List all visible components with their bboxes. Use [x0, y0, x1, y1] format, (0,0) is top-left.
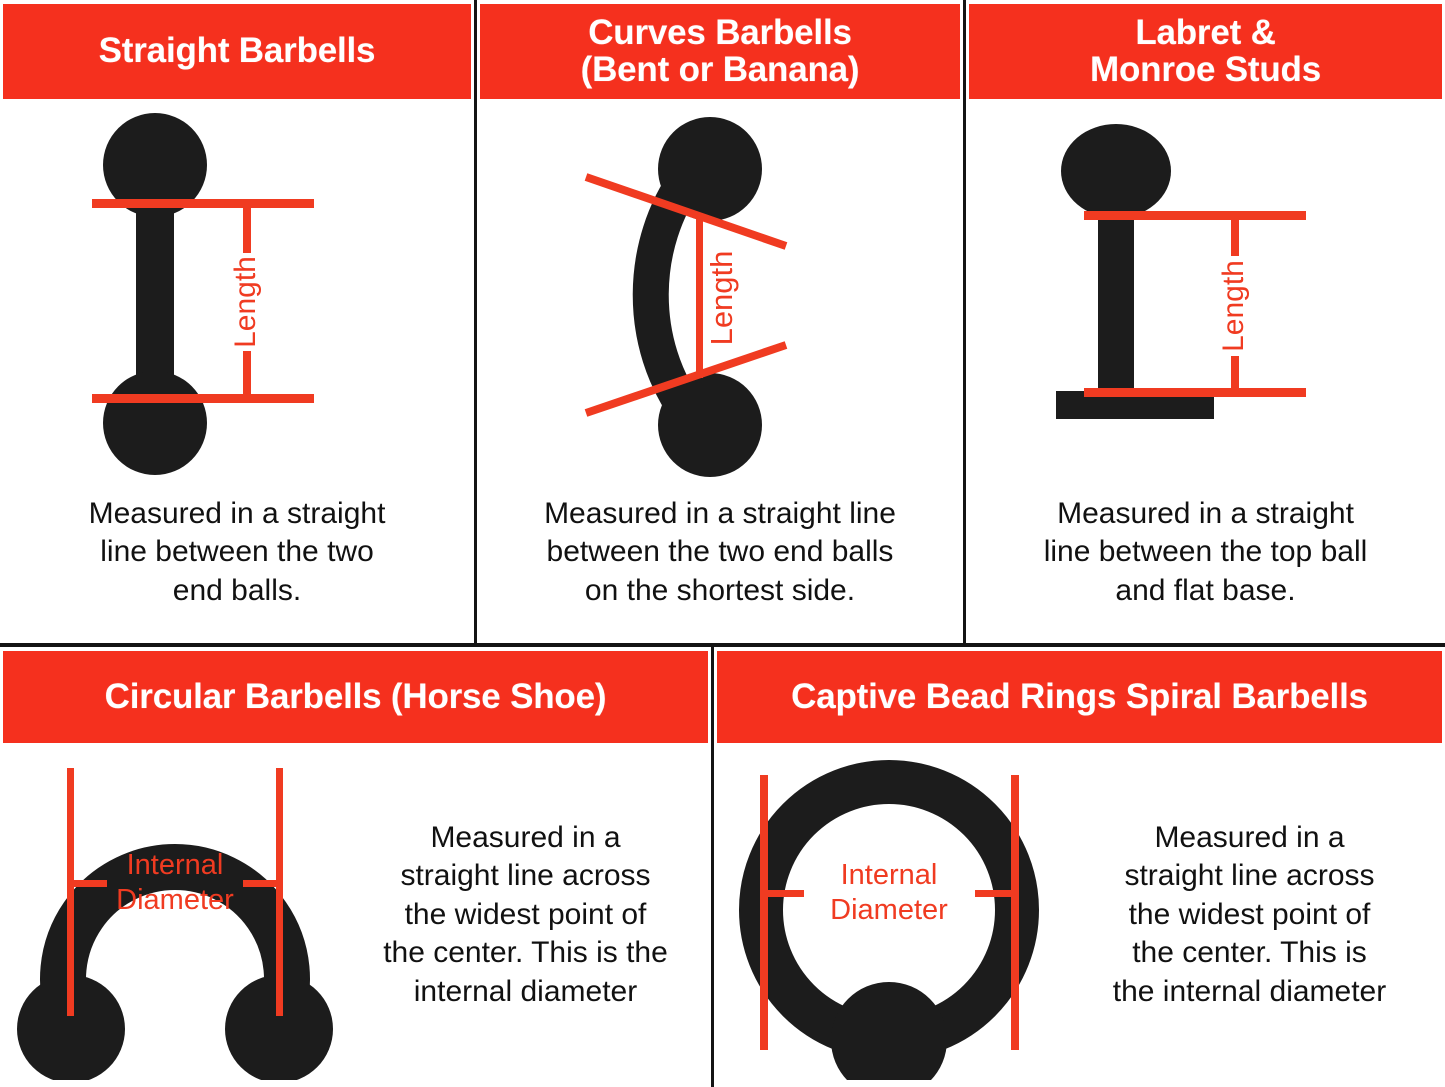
- dimension-line: [696, 218, 703, 378]
- upper-extension-line: [1084, 211, 1306, 220]
- curved-barbell-diagram: Length: [570, 113, 870, 483]
- body-circular-barbells: Internal Diameter Measured in a straight…: [0, 743, 711, 1087]
- cell-circular-barbells: Circular Barbells (Horse Shoe): [0, 643, 714, 1087]
- header-line-1: Circular Barbells (Horse Shoe): [105, 679, 607, 715]
- labret-post: [1098, 197, 1134, 397]
- lower-extension-line: [92, 394, 314, 403]
- right-measure-line: [276, 768, 283, 1016]
- straight-barbell-diagram: Length: [92, 113, 382, 483]
- cell-curved-barbells: Curves Barbells (Bent or Banana): [477, 0, 966, 643]
- length-label: Length: [1216, 260, 1249, 352]
- cell-captive-bead-rings: Captive Bead Rings Spiral Barbells: [714, 643, 1445, 1087]
- header-line-1: Straight Barbells: [99, 33, 376, 69]
- header-line-2: Monroe Studs: [1090, 52, 1321, 88]
- right-measure-line: [1011, 775, 1019, 1050]
- cell-straight-barbells: Straight Barbells: [0, 0, 477, 643]
- body-curved-barbells: Length Measured in a straight line betwe…: [477, 99, 963, 643]
- labret-stud-svg: Length: [1056, 123, 1356, 473]
- bottom-row: Circular Barbells (Horse Shoe): [0, 643, 1445, 1087]
- body-labret-monroe-studs: Length Measured in a straight line betwe…: [966, 99, 1445, 643]
- caption-labret-monroe-studs: Measured in a straight line between the …: [1044, 495, 1368, 610]
- length-label: Length: [229, 256, 262, 348]
- header-line-1: Labret &: [1090, 15, 1321, 51]
- caption-captive-bead-rings: Measured in a straight line across the w…: [1054, 819, 1445, 1011]
- captive-bead-ring-svg: Internal Diameter: [724, 750, 1054, 1080]
- labret-stud-diagram: Length: [1056, 113, 1356, 483]
- cell-labret-monroe-studs: Labret & Monroe Studs: [966, 0, 1445, 643]
- caption-curved-barbells: Measured in a straight line between the …: [544, 495, 896, 610]
- internal-label-line1: Internal: [127, 849, 224, 881]
- top-ball: [1061, 124, 1171, 218]
- left-arrow-tick: [760, 890, 804, 897]
- length-label: Length: [704, 251, 739, 346]
- jewelry-measurement-infographic: Straight Barbells: [0, 0, 1445, 1087]
- barbell-shaft: [136, 185, 174, 401]
- header-curved-barbells: Curves Barbells (Bent or Banana): [480, 4, 960, 99]
- internal-label-line2: Diameter: [830, 894, 948, 926]
- horseshoe-diagram: Internal Diameter: [10, 750, 340, 1080]
- top-row: Straight Barbells: [0, 0, 1445, 643]
- internal-label-line1: Internal: [841, 859, 938, 891]
- header-line-2: (Bent or Banana): [581, 52, 860, 88]
- captive-bead-ring-diagram: Internal Diameter: [724, 750, 1054, 1080]
- caption-straight-barbells: Measured in a straight line between the …: [89, 495, 386, 610]
- bottom-ball: [103, 371, 207, 475]
- header-captive-bead-rings: Captive Bead Rings Spiral Barbells: [717, 651, 1442, 743]
- body-captive-bead-rings: Internal Diameter Measured in a straight…: [714, 743, 1445, 1087]
- left-measure-line: [760, 775, 768, 1050]
- horseshoe-svg: Internal Diameter: [10, 750, 340, 1080]
- header-line-1: Curves Barbells: [581, 15, 860, 51]
- left-arrow-tick: [67, 880, 107, 887]
- header-circular-barbells: Circular Barbells (Horse Shoe): [3, 651, 708, 743]
- header-straight-barbells: Straight Barbells: [3, 4, 471, 99]
- header-line-1: Captive Bead Rings Spiral Barbells: [791, 679, 1368, 715]
- captive-bead: [831, 982, 947, 1080]
- body-straight-barbells: Length Measured in a straight line betwe…: [0, 99, 474, 643]
- left-measure-line: [67, 768, 74, 1016]
- internal-label-line2: Diameter: [116, 884, 234, 916]
- header-labret-monroe-studs: Labret & Monroe Studs: [969, 4, 1442, 99]
- curved-barbell-svg: Length: [570, 113, 870, 483]
- right-arrow-tick: [243, 880, 283, 887]
- straight-barbell-svg: Length: [92, 113, 382, 483]
- upper-extension-line: [92, 199, 314, 208]
- lower-extension-line: [1084, 388, 1306, 397]
- bottom-ball: [658, 373, 762, 477]
- caption-circular-barbells: Measured in a straight line across the w…: [340, 819, 711, 1011]
- right-arrow-tick: [975, 890, 1019, 897]
